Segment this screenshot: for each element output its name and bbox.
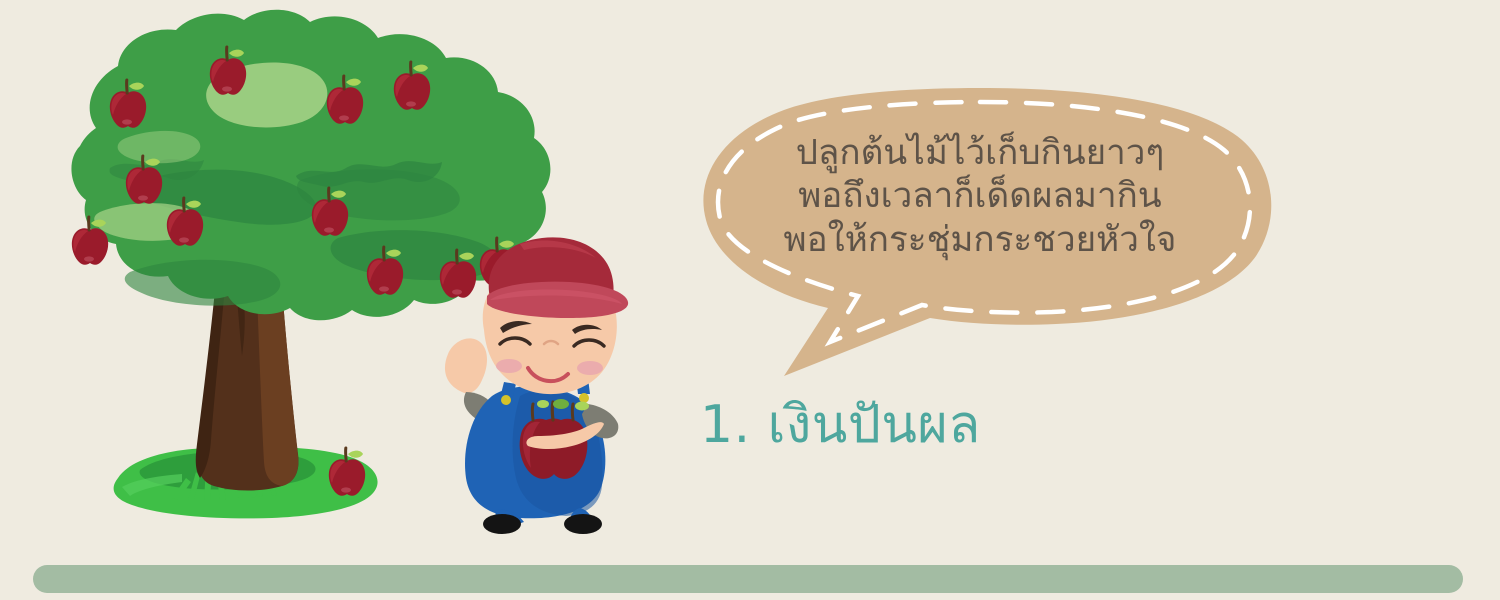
poster-canvas: ปลูกต้นไม้ไว้เก็บกินยาวๆ พอถึงเวลาก็เด็ด… [0, 0, 1500, 600]
bubble-line-3: พอให้กระชุ่มกระชวยหัวใจ [690, 219, 1270, 262]
bubble-line-1: ปลูกต้นไม้ไว้เก็บกินยาวๆ [690, 132, 1270, 175]
bottom-bar [33, 565, 1463, 593]
apple-tree-illustration [0, 0, 700, 560]
bubble-text: ปลูกต้นไม้ไว้เก็บกินยาวๆ พอถึงเวลาก็เด็ด… [690, 132, 1270, 262]
section-heading: 1. เงินปันผล [700, 396, 981, 456]
bubble-line-2: พอถึงเวลาก็เด็ดผลมากิน [690, 175, 1270, 218]
